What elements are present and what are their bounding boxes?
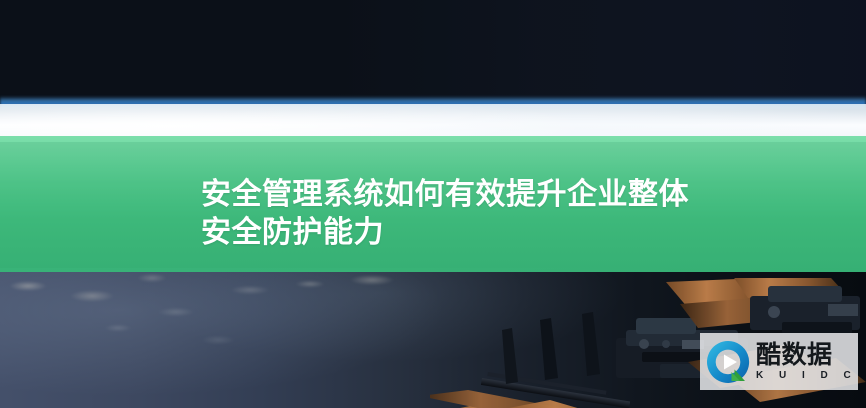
- watermark-brand-name: 酷数据: [756, 342, 857, 368]
- watermark: 酷数据 K U I D C: [700, 333, 858, 390]
- surface-cloud-wisps: [0, 268, 470, 388]
- watermark-brand-sub: K U I D C: [756, 369, 857, 382]
- hero-banner: 安全管理系统如何有效提升企业整体 安全防护能力 酷数据 K U I D C: [0, 0, 866, 408]
- kuidc-logo-icon: [704, 338, 752, 386]
- page-title: 安全管理系统如何有效提升企业整体 安全防护能力: [201, 176, 721, 252]
- watermark-text: 酷数据 K U I D C: [756, 342, 857, 382]
